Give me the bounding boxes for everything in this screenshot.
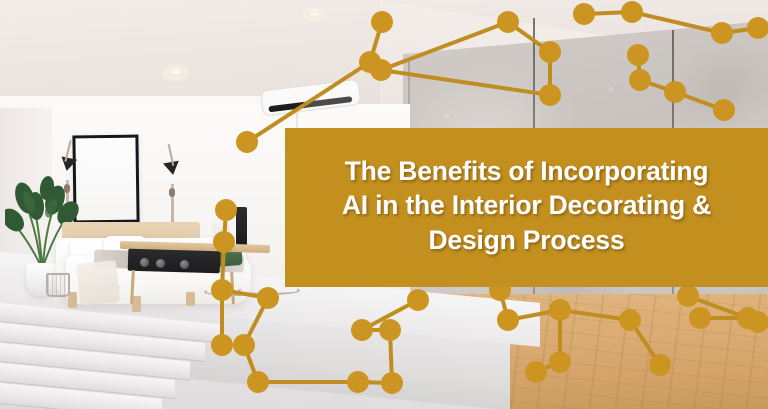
chair-base — [238, 286, 300, 295]
lamp-knob — [169, 188, 175, 197]
wire-basket — [46, 273, 70, 297]
bed-throw-fold — [76, 260, 120, 306]
title-banner: The Benefits of Incorporating AI in the … — [285, 128, 768, 287]
desk-knob — [180, 260, 189, 269]
floor-stool — [95, 284, 121, 292]
page-title: The Benefits of Incorporating AI in the … — [301, 154, 752, 257]
title-line-3: Design Process — [301, 223, 752, 257]
title-line-1: The Benefits of Incorporating — [301, 154, 752, 188]
hero-banner: The Benefits of Incorporating AI in the … — [0, 0, 768, 409]
bed-leg — [186, 292, 195, 306]
desk-knob — [156, 259, 165, 268]
title-line-2: AI in the Interior Decorating & — [301, 188, 752, 222]
desk-knob — [140, 258, 149, 267]
